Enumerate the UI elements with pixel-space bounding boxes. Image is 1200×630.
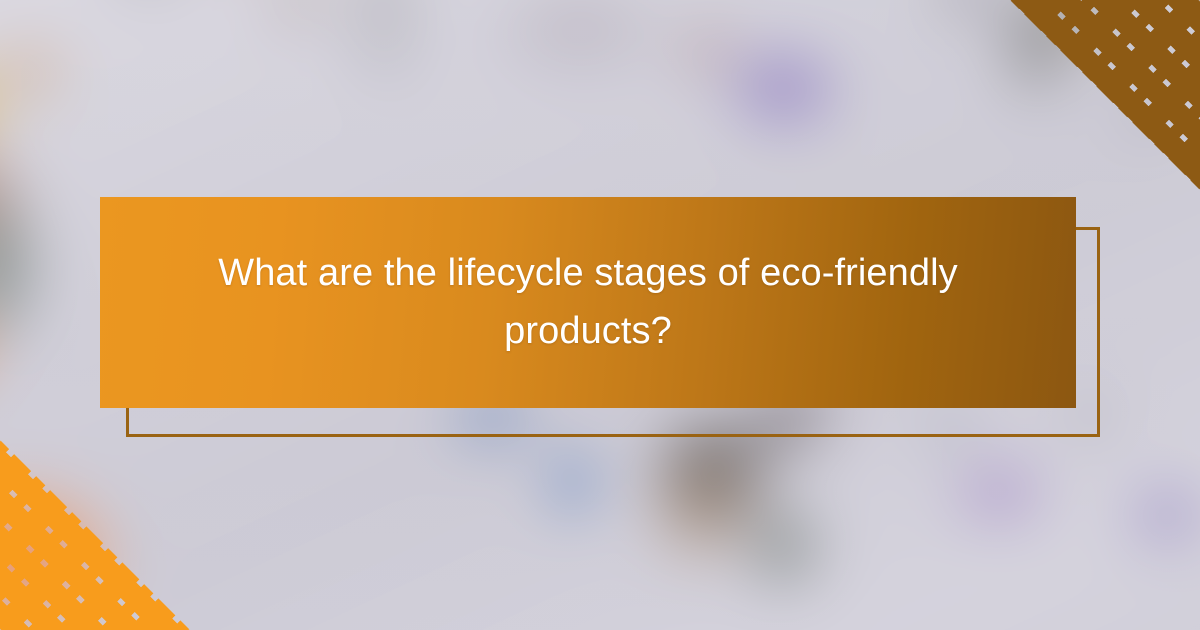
bottom-left-corner-ornament <box>0 440 190 630</box>
quote-banner: What are the lifecycle stages of eco-fri… <box>100 197 1076 408</box>
corner-wedge-stripes-icon <box>1010 0 1200 190</box>
corner-wedge-stripes-icon <box>0 440 190 630</box>
top-right-corner-ornament <box>1010 0 1200 190</box>
quote-card: What are the lifecycle stages of eco-fri… <box>0 0 1200 630</box>
quote-text: What are the lifecycle stages of eco-fri… <box>216 245 961 361</box>
